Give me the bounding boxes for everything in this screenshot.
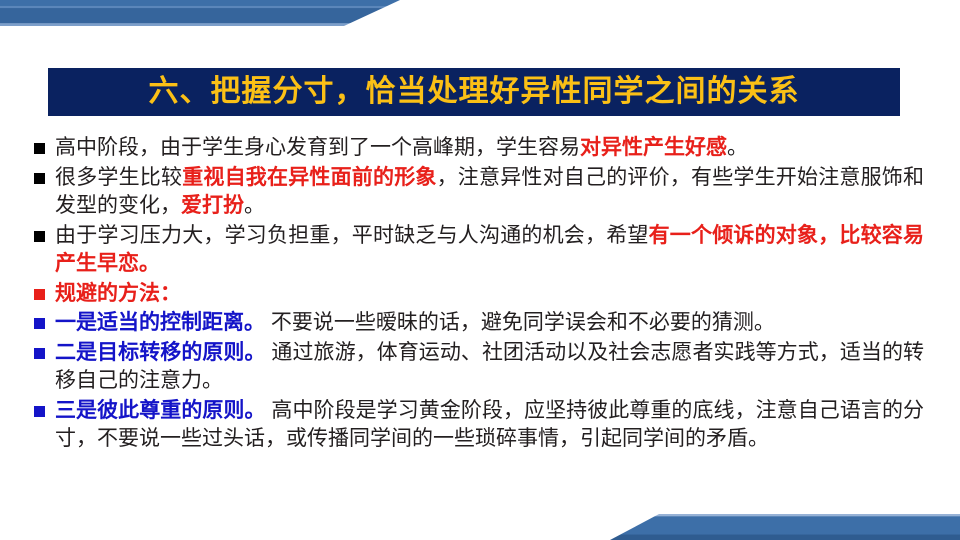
bullet-text: 由于学习压力大，学习负担重，平时缺乏与人沟通的机会，希望有一个倾诉的对象，比较容… xyxy=(55,222,924,279)
bullet-text: 高中阶段，由于学生身心发育到了一个高峰期，学生容易对异性产生好感。 xyxy=(55,134,924,163)
bullet-marker-blue xyxy=(34,406,45,417)
text-run: 规避的方法： xyxy=(55,282,181,305)
bullet-list: 高中阶段，由于学生身心发育到了一个高峰期，学生容易对异性产生好感。很多学生比较重… xyxy=(34,134,924,455)
slide-canvas: 六、把握分寸，恰当处理好异性同学之间的关系 高中阶段，由于学生身心发育到了一个高… xyxy=(0,0,960,540)
title-banner: 六、把握分寸，恰当处理好异性同学之间的关系 xyxy=(48,68,900,116)
text-run: 很多学生比较 xyxy=(55,166,182,189)
bullet-text: 二是目标转移的原则。 通过旅游，体育运动、社团活动以及社会志愿者实践等方式，适当… xyxy=(55,339,924,396)
text-run: 三是彼此尊重的原则。 xyxy=(55,399,266,422)
bullet-marker-red xyxy=(34,289,45,300)
bullet-text: 三是彼此尊重的原则。 高中阶段是学习黄金阶段，应坚持彼此尊重的底线，注意自己语言… xyxy=(55,397,924,454)
text-run: 爱打扮 xyxy=(181,194,244,217)
bullet-marker-black xyxy=(34,231,45,242)
bullet-item: 高中阶段，由于学生身心发育到了一个高峰期，学生容易对异性产生好感。 xyxy=(34,134,924,163)
bullet-item: 由于学习压力大，学习负担重，平时缺乏与人沟通的机会，希望有一个倾诉的对象，比较容… xyxy=(34,222,924,279)
text-run: 对异性产生好感 xyxy=(580,136,727,159)
page-title: 六、把握分寸，恰当处理好异性同学之间的关系 xyxy=(149,77,800,107)
bullet-item: 一是适当的控制距离。 不要说一些暧昧的话，避免同学误会和不必要的猜测。 xyxy=(34,309,924,338)
bottom-right-decor-bar xyxy=(610,514,960,540)
bullet-marker-black xyxy=(34,173,45,184)
bullet-text: 规避的方法： xyxy=(55,280,924,309)
text-run: 。 xyxy=(244,194,265,217)
top-left-decor-bar xyxy=(0,0,400,26)
text-run: 不要说一些暧昧的话，避免同学误会和不必要的猜测。 xyxy=(265,311,775,334)
bullet-item: 规避的方法： xyxy=(34,280,924,309)
text-run: 。 xyxy=(727,136,748,159)
bullet-marker-black xyxy=(34,143,45,154)
text-run: 重视自我在异性面前的形象 xyxy=(182,166,436,189)
bullet-item: 很多学生比较重视自我在异性面前的形象，注意异性对自己的评价，有些学生开始注意服饰… xyxy=(34,164,924,221)
text-run: 由于学习压力大，学习负担重，平时缺乏与人沟通的机会，希望 xyxy=(55,224,649,247)
bullet-item: 二是目标转移的原则。 通过旅游，体育运动、社团活动以及社会志愿者实践等方式，适当… xyxy=(34,339,924,396)
text-run: 二是目标转移的原则。 xyxy=(55,341,266,364)
bullet-marker-blue xyxy=(34,348,45,359)
text-run: 一是适当的控制距离。 xyxy=(55,311,265,334)
bullet-marker-blue xyxy=(34,318,45,329)
bullet-text: 很多学生比较重视自我在异性面前的形象，注意异性对自己的评价，有些学生开始注意服饰… xyxy=(55,164,924,221)
bullet-text: 一是适当的控制距离。 不要说一些暧昧的话，避免同学误会和不必要的猜测。 xyxy=(55,309,924,338)
bullet-item: 三是彼此尊重的原则。 高中阶段是学习黄金阶段，应坚持彼此尊重的底线，注意自己语言… xyxy=(34,397,924,454)
text-run: 高中阶段，由于学生身心发育到了一个高峰期，学生容易 xyxy=(55,136,580,159)
